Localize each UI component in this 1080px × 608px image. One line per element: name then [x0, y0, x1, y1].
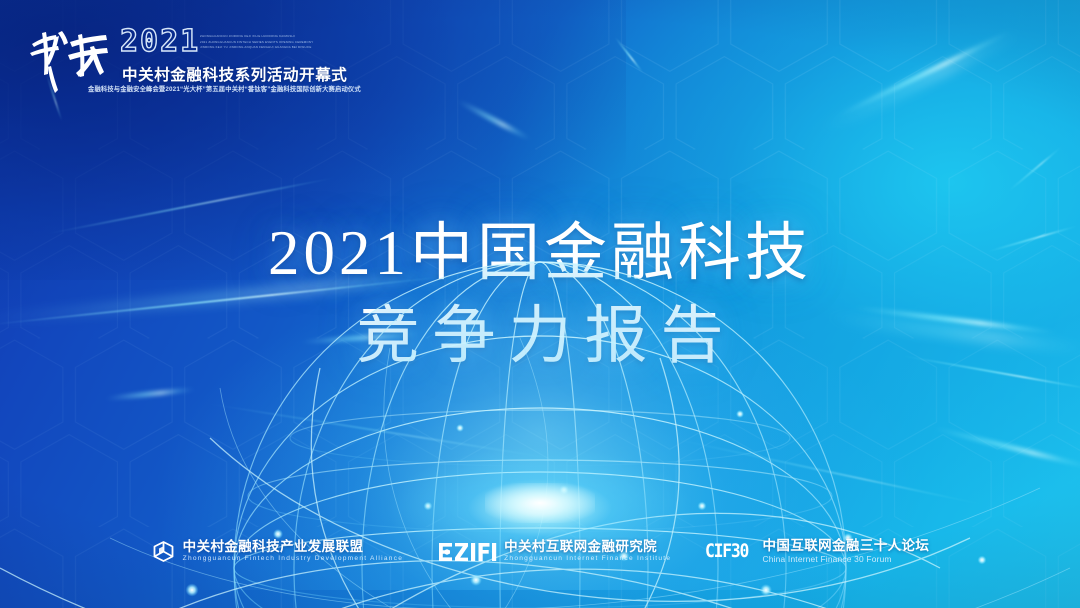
- event-title-cn: 中关村金融科技系列活动开幕式: [122, 63, 347, 85]
- logo-zhongguancun-fintech-alliance: 中关村金融科技产业发展联盟 Zhongguancun Fintech Indus…: [151, 539, 403, 564]
- event-subtitle-cn: 金融科技与金融安全峰会暨2021“光大杯”第五届中关村“番钛客”金融科技国际创新…: [88, 84, 361, 93]
- partner-logos: 中关村金融科技产业发展联盟 Zhongguancun Fintech Indus…: [0, 539, 1080, 564]
- report-title: 2021中国金融科技 竞争力报告: [0, 212, 1080, 378]
- logo-alliance-en: Zhongguancun Fintech Industry Developmen…: [183, 556, 403, 563]
- logo-institute-cn: 中关村互联网金融研究院: [504, 540, 671, 554]
- presentation-slide: 2021 ZHONGGUANCUN JINRONG KEJI XILIE HUO…: [0, 0, 1080, 608]
- zifi-mark-icon: [437, 540, 497, 564]
- logo-alliance-cn: 中关村金融科技产业发展联盟: [183, 540, 403, 554]
- title-line-2: 竞争力报告: [0, 295, 1080, 378]
- logo-institute-en: Zhongguancun Internet Finance Institute: [504, 556, 671, 563]
- center-light-core: [485, 483, 595, 523]
- logo-china-internet-finance-30-forum: CIF30 中国互联网金融三十人论坛 China Internet Financ…: [705, 539, 929, 564]
- event-logo-lockup: 2021 ZHONGGUANCUN JINRONG KEJI XILIE HUO…: [24, 22, 324, 108]
- year-2021-mark: 2021: [120, 27, 200, 57]
- cube-mark-icon: [151, 539, 176, 564]
- cif30-mark-icon: CIF30: [705, 542, 748, 561]
- logo-forum-cn: 中国互联网金融三十人论坛: [763, 539, 930, 553]
- logo-forum-en: China Internet Finance 30 Forum: [763, 555, 930, 563]
- title-line-1: 2021中国金融科技: [0, 212, 1080, 295]
- english-line-3: JINRONG KEJI YU JINRONG ANQUAN FENGHUI G…: [200, 45, 348, 51]
- logo-zhongguancun-internet-finance-institute: 中关村互联网金融研究院 Zhongguancun Internet Financ…: [437, 540, 671, 564]
- event-english-subtitle: ZHONGGUANCUN JINRONG KEJI XILIE HUODONG …: [200, 34, 348, 51]
